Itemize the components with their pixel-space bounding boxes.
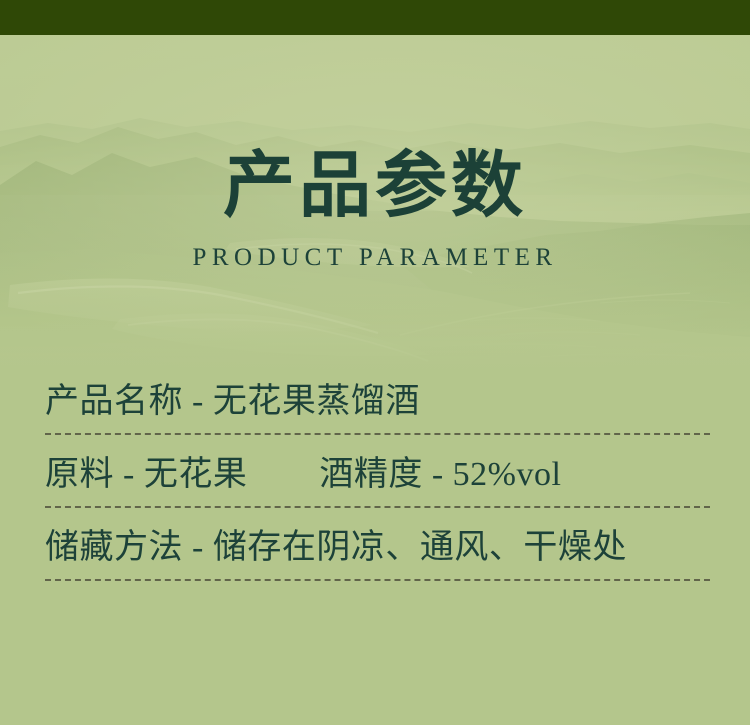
product-parameter-banner: 产品参数 PRODUCT PARAMETER 产品名称 - 无花果蒸馏酒 原料 …: [0, 0, 750, 725]
spec-divider-2: [45, 506, 710, 508]
spec-row-storage: 储藏方法 - 储存在阴凉、通风、干燥处: [45, 508, 710, 579]
spec-product-name: 产品名称 - 无花果蒸馏酒: [45, 373, 420, 422]
spec-storage-method: 储藏方法 - 储存在阴凉、通风、干燥处: [45, 519, 627, 568]
spec-ingredient: 原料 - 无花果: [45, 446, 247, 495]
spec-alcohol-content: 酒精度 - 52%vol: [319, 446, 561, 495]
page-title: 产品参数: [0, 150, 750, 222]
top-banner-bar: [0, 0, 750, 35]
page-subtitle: PRODUCT PARAMETER: [0, 244, 750, 272]
spec-row-product-name: 产品名称 - 无花果蒸馏酒: [45, 362, 710, 433]
spec-divider-1: [45, 433, 710, 435]
product-spec-list: 产品名称 - 无花果蒸馏酒 原料 - 无花果 酒精度 - 52%vol 储藏方法…: [45, 362, 710, 581]
spec-row-ingredient-alcohol: 原料 - 无花果 酒精度 - 52%vol: [45, 435, 710, 506]
spec-divider-3: [45, 579, 710, 581]
heading-block: 产品参数 PRODUCT PARAMETER: [0, 150, 750, 272]
